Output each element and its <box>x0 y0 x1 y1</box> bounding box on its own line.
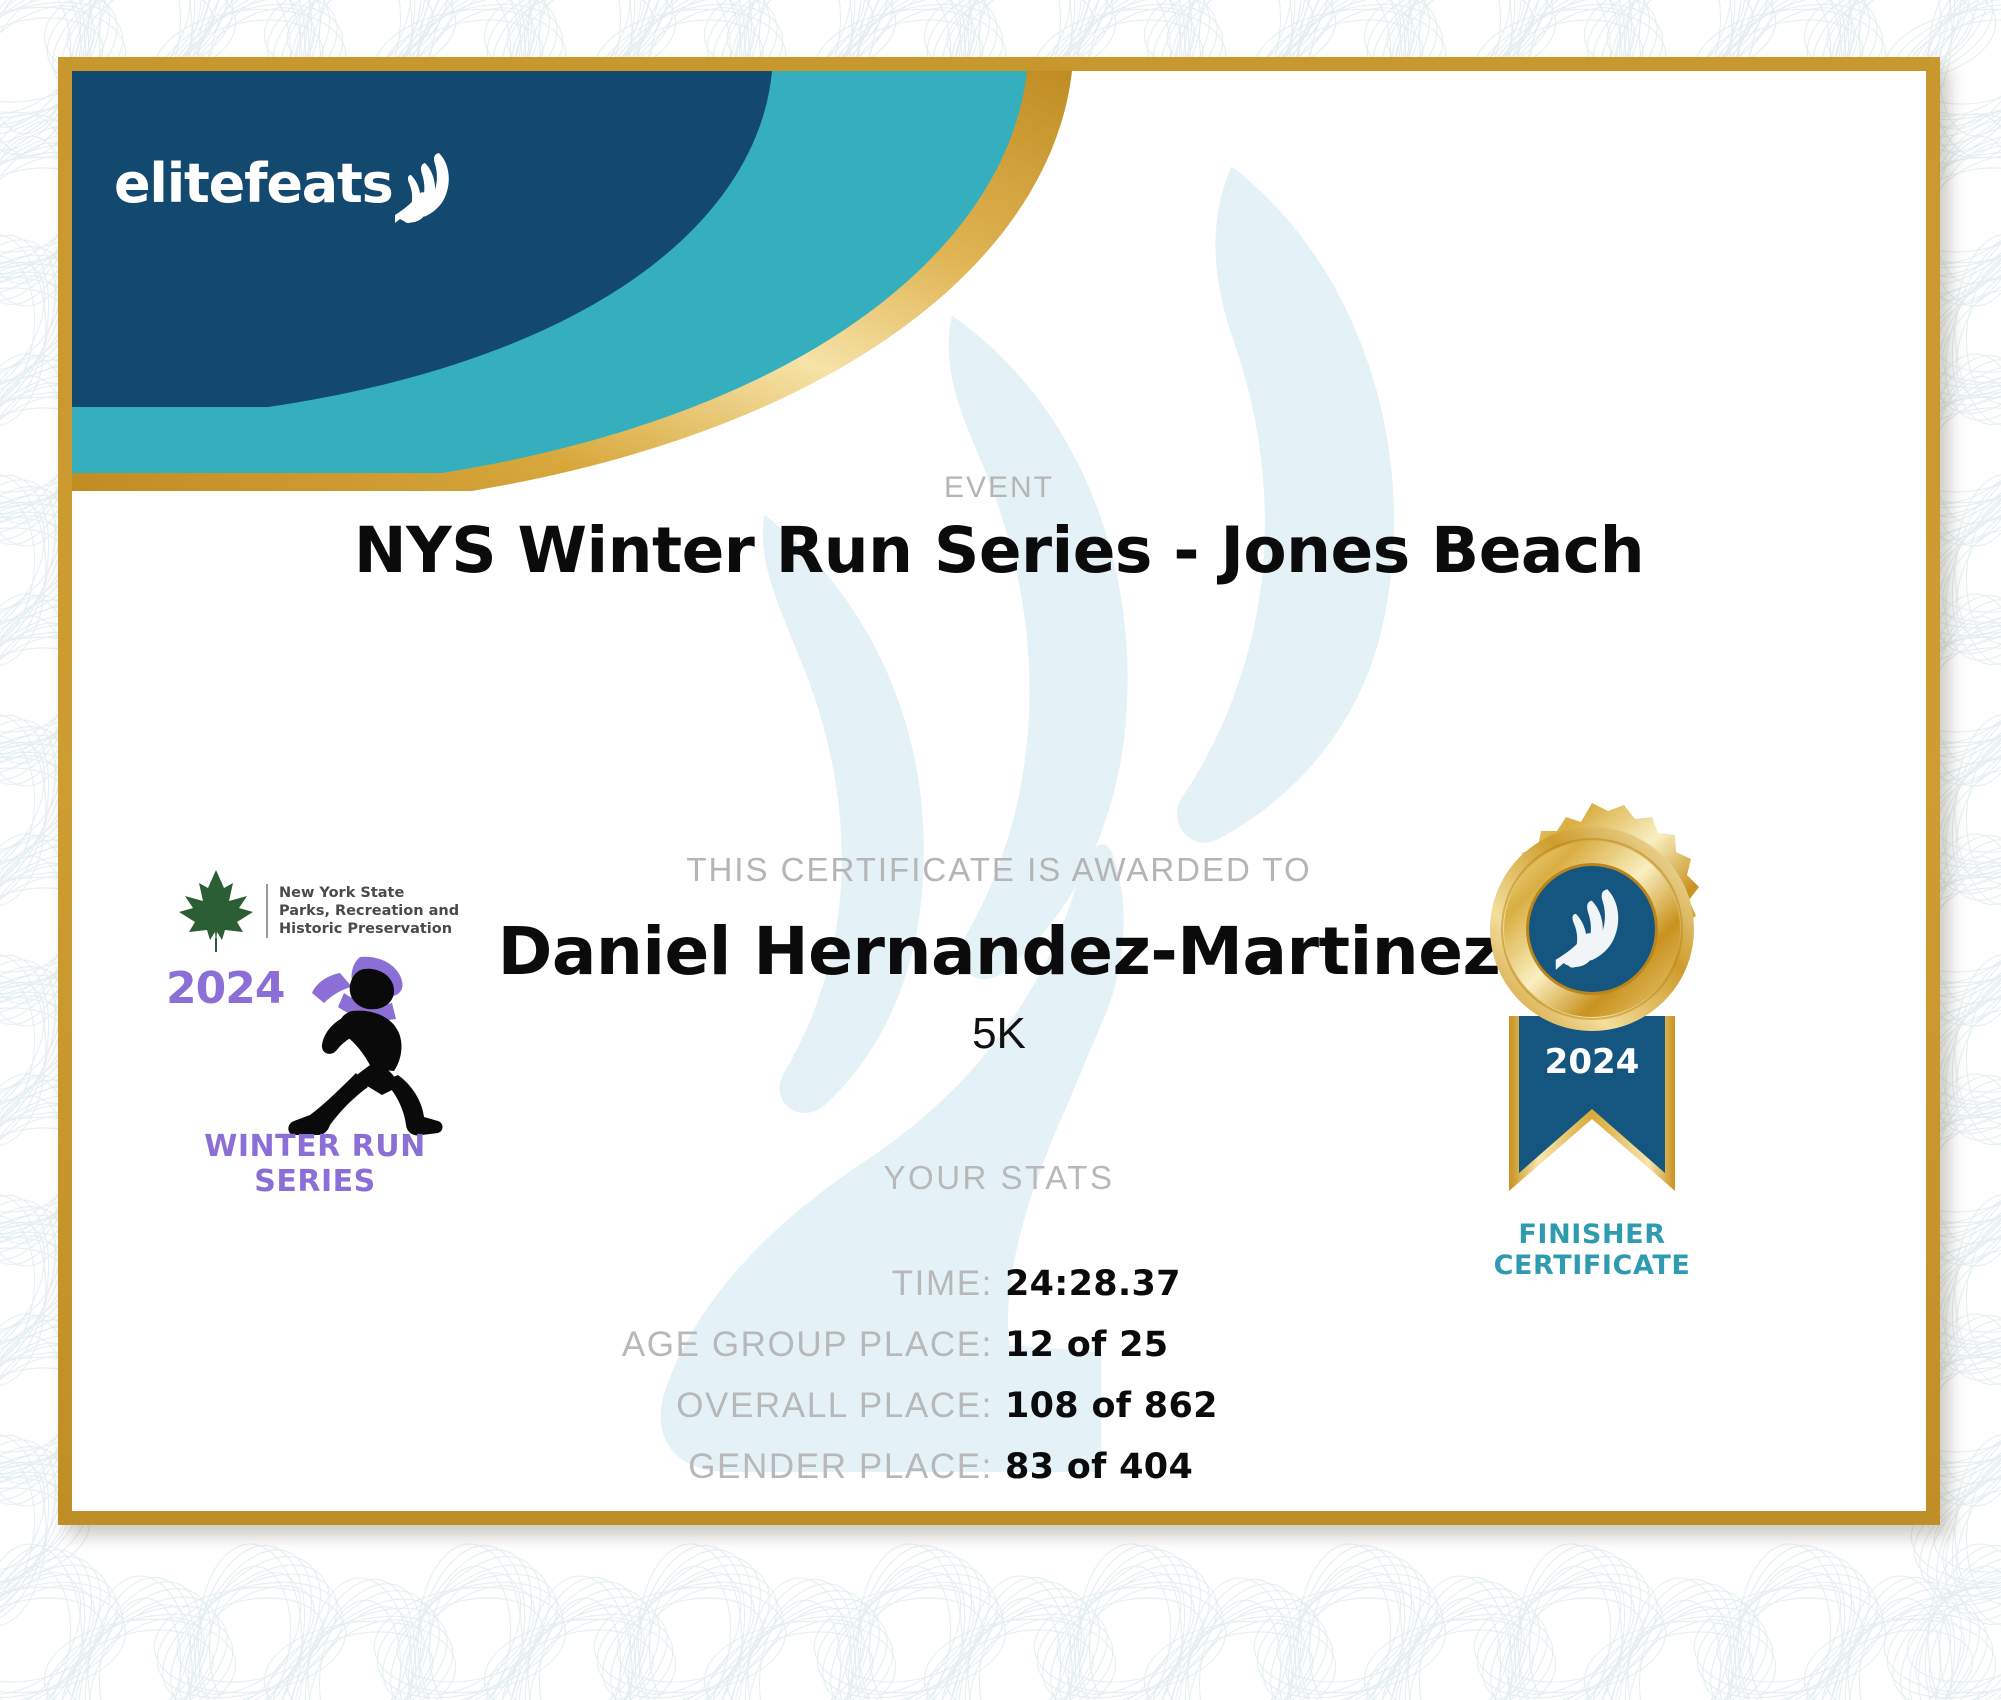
certificate-page: elitefeats EVENT NYS Winter Run Series -… <box>0 0 2001 1700</box>
certificate-body: elitefeats EVENT NYS Winter Run Series -… <box>72 71 1926 1511</box>
stat-row-age-group-place: AGE GROUP PLACE: 12 of 25 <box>72 1325 1926 1365</box>
maple-leaf-icon <box>177 868 255 954</box>
elitefeats-logo: elitefeats <box>114 129 534 239</box>
event-title: NYS Winter Run Series - Jones Beach <box>72 514 1926 587</box>
stats-list: TIME: 24:28.37 AGE GROUP PLACE: 12 of 25… <box>72 1264 1926 1508</box>
nys-line-1: New York State <box>279 884 459 902</box>
stat-key: AGE GROUP PLACE: <box>333 1325 1005 1365</box>
medal-year: 2024 <box>1545 1042 1640 1082</box>
nys-line-3: Historic Preservation <box>279 920 459 938</box>
winged-foot-icon <box>395 151 459 223</box>
stat-row-gender-place: GENDER PLACE: 83 of 404 <box>72 1447 1926 1487</box>
nys-parks-logo-text: New York State Parks, Recreation and His… <box>266 884 459 939</box>
running-person-icon <box>232 953 462 1143</box>
stat-value: 83 of 404 <box>1005 1447 1665 1487</box>
stat-key: TIME: <box>333 1264 1005 1304</box>
medal-ribbon <box>1519 1016 1665 1173</box>
brand-wordmark: elitefeats <box>114 157 393 211</box>
nys-parks-logo: New York State Parks, Recreation and His… <box>177 866 497 956</box>
stat-value: 108 of 862 <box>1005 1386 1665 1426</box>
certificate-gold-border: elitefeats EVENT NYS Winter Run Series -… <box>58 57 1940 1525</box>
stat-key: OVERALL PLACE: <box>333 1386 1005 1426</box>
finisher-certificate-caption: FINISHER CERTIFICATE <box>1412 1219 1772 1281</box>
nys-line-2: Parks, Recreation and <box>279 902 459 920</box>
winter-run-series-logo: 2024 <box>150 951 480 1201</box>
stat-row-overall-place: OVERALL PLACE: 108 of 862 <box>72 1386 1926 1426</box>
stat-value: 12 of 25 <box>1005 1325 1665 1365</box>
stat-key: GENDER PLACE: <box>333 1447 1005 1487</box>
caption-line-2: CERTIFICATE <box>1412 1250 1772 1281</box>
winter-run-series-title: WINTER RUN SERIES <box>150 1129 480 1199</box>
finisher-medal-badge: 2024 <box>1447 801 1737 1241</box>
event-label: EVENT <box>72 471 1926 505</box>
caption-line-1: FINISHER <box>1412 1219 1772 1250</box>
